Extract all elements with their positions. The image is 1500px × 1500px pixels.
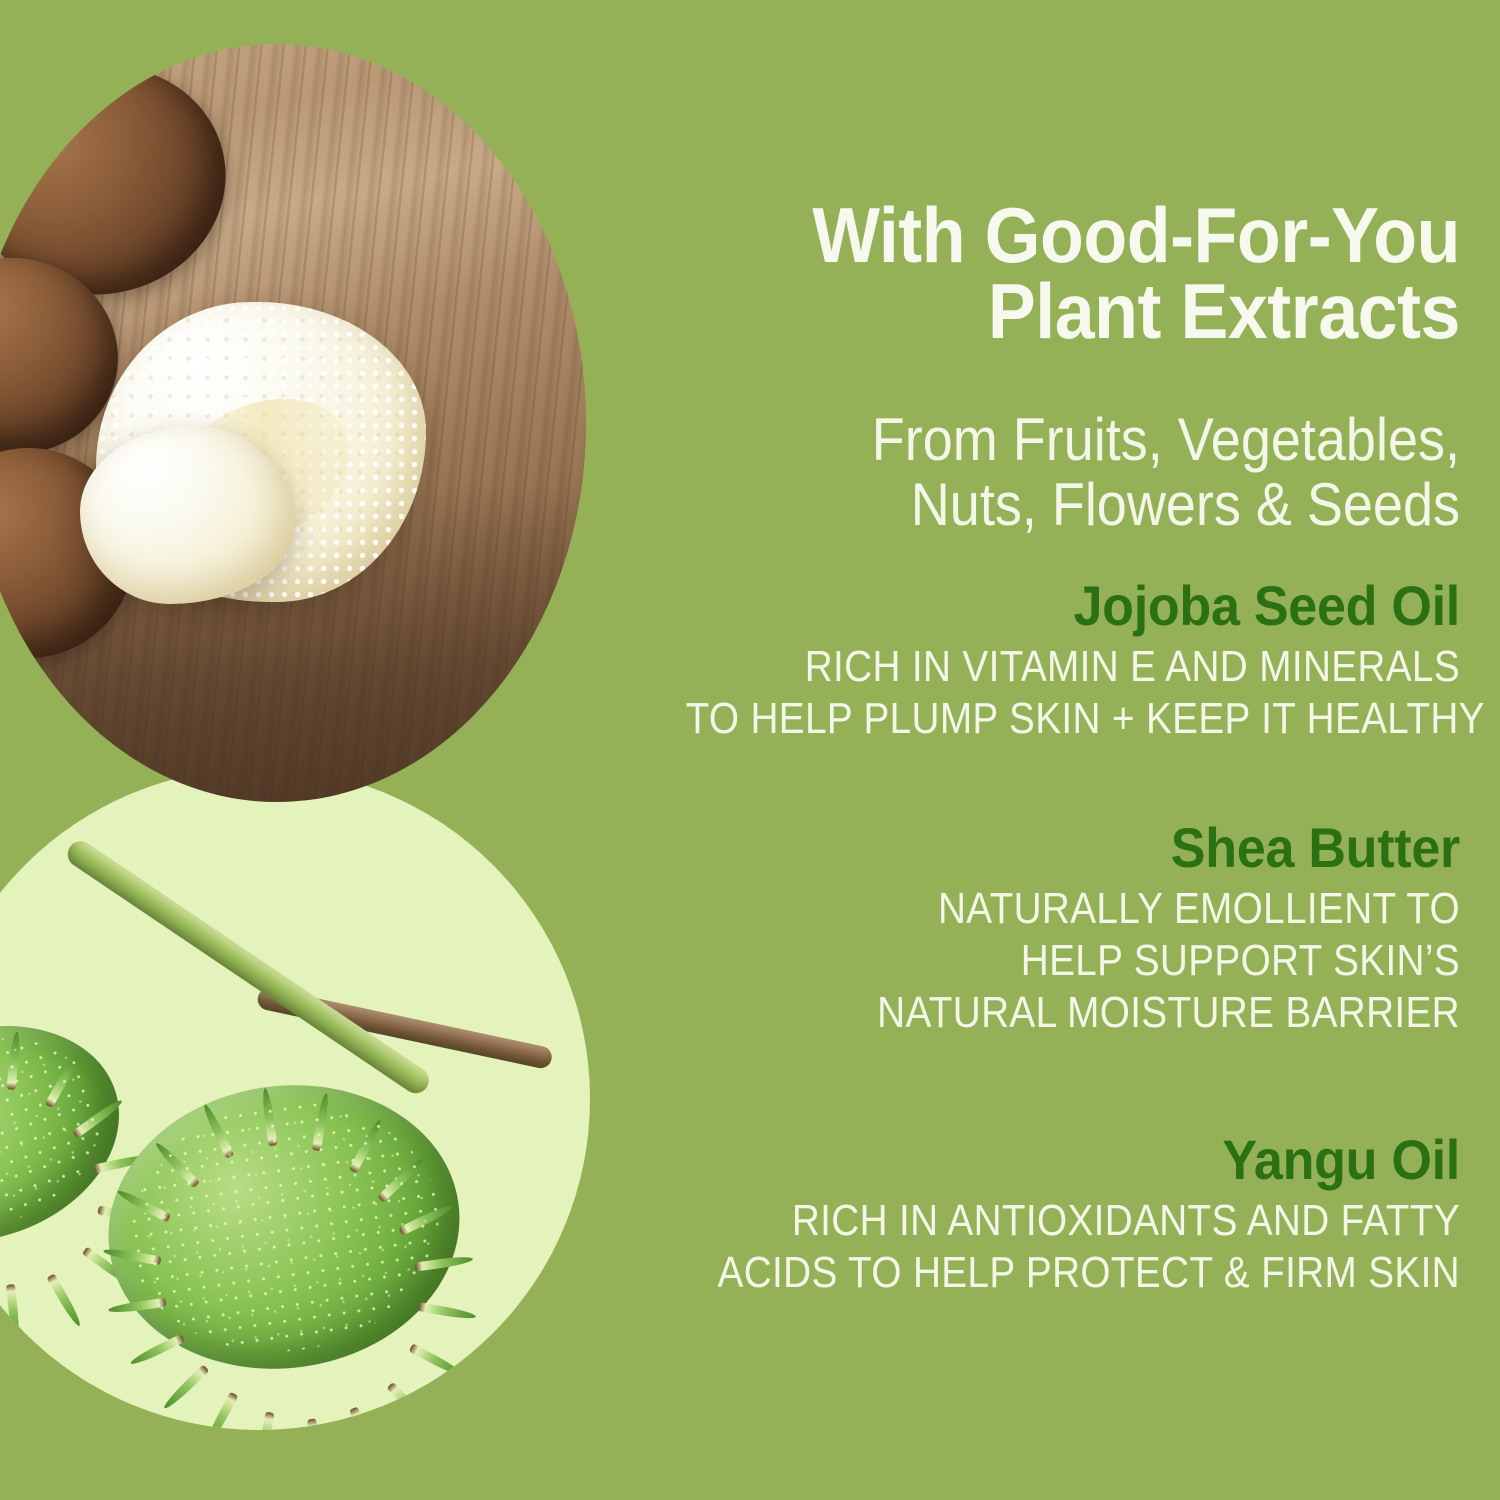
- ingredient-description: NATURALLY EMOLLIENT TO HELP SUPPORT SKIN…: [686, 883, 1460, 1039]
- ingredient-shea-butter: Shea Butter NATURALLY EMOLLIENT TO HELP …: [580, 818, 1460, 1039]
- text-column: With Good-For-You Plant Extracts From Fr…: [600, 0, 1500, 1500]
- headline-line-2: Plant Extracts: [669, 274, 1460, 350]
- description-line: ACIDS TO HELP PROTECT & FIRM SKIN: [686, 1247, 1460, 1299]
- headline-line-1: With Good-For-You: [669, 198, 1460, 274]
- description-line: HELP SUPPORT SKIN’S: [686, 935, 1460, 987]
- ingredient-yangu-oil: Yangu Oil RICH IN ANTIOXIDANTS AND FATTY…: [580, 1130, 1460, 1299]
- ingredient-description: RICH IN ANTIOXIDANTS AND FATTY ACIDS TO …: [686, 1195, 1460, 1299]
- yangu-fruit-right: [90, 1063, 478, 1391]
- ingredient-name: Yangu Oil: [642, 1130, 1460, 1189]
- description-line: NATURAL MOISTURE BARRIER: [686, 987, 1460, 1039]
- description-line: RICH IN VITAMIN E AND MINERALS: [686, 641, 1460, 693]
- shea-butter-photo: [0, 44, 586, 802]
- ingredient-name: Shea Butter: [642, 818, 1460, 877]
- ingredient-jojoba-seed-oil: Jojoba Seed Oil RICH IN VITAMIN E AND MI…: [580, 576, 1460, 745]
- description-line: NATURALLY EMOLLIENT TO: [686, 883, 1460, 935]
- ingredient-description: RICH IN VITAMIN E AND MINERALS TO HELP P…: [686, 641, 1460, 745]
- subhead-line-2: Nuts, Flowers & Seeds: [686, 473, 1460, 538]
- description-line: RICH IN ANTIOXIDANTS AND FATTY: [686, 1195, 1460, 1247]
- yangu-fruit-photo: [0, 768, 590, 1430]
- subhead-line-1: From Fruits, Vegetables,: [686, 408, 1460, 473]
- plant-extracts-infographic: With Good-For-You Plant Extracts From Fr…: [0, 0, 1500, 1500]
- page-title: With Good-For-You Plant Extracts: [669, 198, 1460, 349]
- page-subtitle: From Fruits, Vegetables, Nuts, Flowers &…: [686, 408, 1460, 538]
- description-line: TO HELP PLUMP SKIN + KEEP IT HEALTHY: [686, 693, 1460, 745]
- shea-butter-lobe: [80, 426, 294, 604]
- ingredient-name: Jojoba Seed Oil: [642, 576, 1460, 635]
